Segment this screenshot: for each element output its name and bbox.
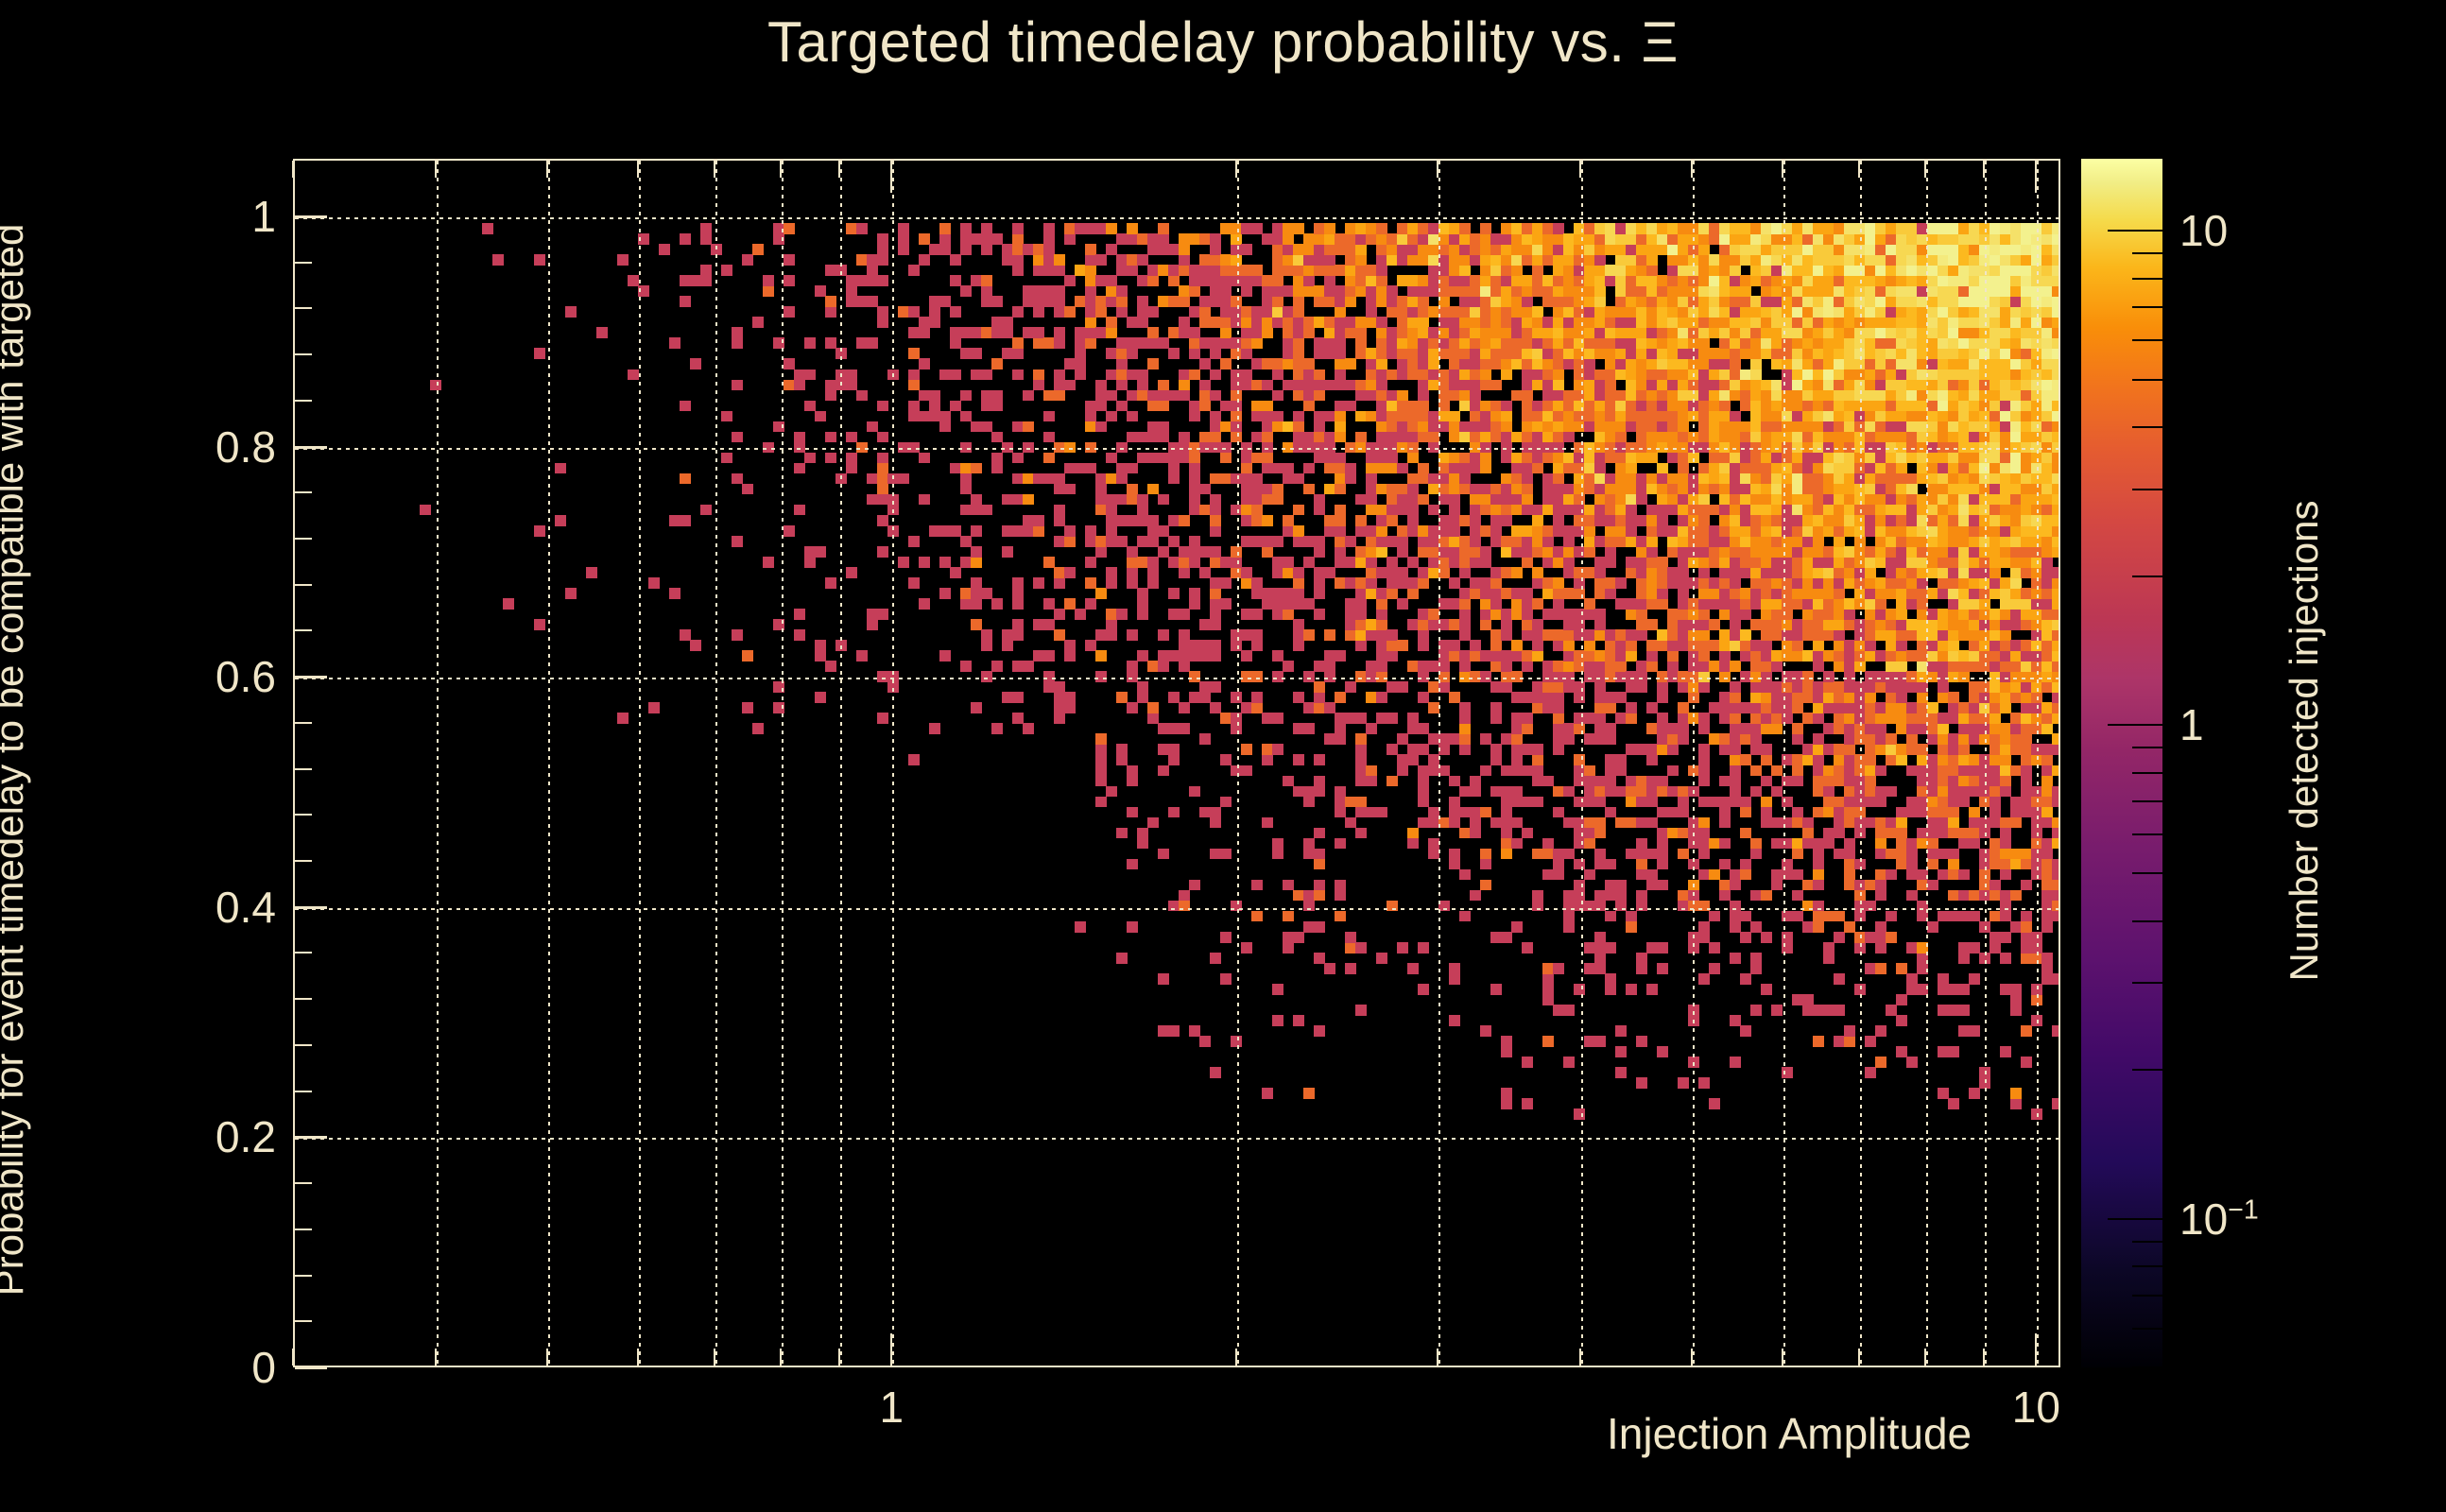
heatmap-cell — [1969, 265, 1980, 276]
heatmap-cell — [1553, 640, 1564, 651]
heatmap-cell — [1605, 525, 1616, 537]
heatmap-cell — [1584, 223, 1595, 234]
heatmap-cell — [2041, 306, 2053, 318]
heatmap-cell — [1865, 619, 1876, 630]
heatmap-cell — [1283, 515, 1294, 526]
heatmap-cell — [2000, 473, 2011, 485]
heatmap-cell — [1896, 588, 1907, 599]
heatmap-cell — [960, 505, 972, 516]
heatmap-cell — [1813, 859, 1824, 870]
colorbar-tick-minor — [2132, 747, 2162, 748]
heatmap-cell — [1511, 254, 1523, 266]
heatmap-cell — [1553, 681, 1564, 693]
heatmap-cell — [1147, 567, 1159, 578]
heatmap-cell — [1979, 432, 1990, 443]
heatmap-cell — [1948, 744, 1959, 755]
heatmap-cell — [1470, 515, 1481, 526]
heatmap-cell — [1761, 463, 1772, 474]
heatmap-cell — [1678, 223, 1689, 234]
heatmap-cell — [1303, 797, 1315, 808]
heatmap-cell — [1896, 369, 1907, 381]
heatmap-cell — [804, 401, 816, 412]
heatmap-cell — [1730, 484, 1741, 495]
heatmap-cell — [1210, 598, 1221, 610]
heatmap-cell — [929, 296, 940, 307]
heatmap-cell — [1210, 817, 1221, 829]
heatmap-cell — [1938, 525, 1949, 537]
heatmap-cell — [1636, 265, 1647, 276]
heatmap-cell — [1740, 337, 1751, 349]
heatmap-cell — [1906, 942, 1918, 954]
heatmap-cell — [1303, 557, 1315, 568]
heatmap-cell — [1210, 619, 1221, 630]
x-tick-minor — [1691, 1349, 1693, 1366]
heatmap-cell — [1387, 327, 1398, 338]
heatmap-cell — [1522, 713, 1533, 724]
heatmap-cell — [1147, 337, 1159, 349]
heatmap-cell — [1813, 807, 1824, 818]
heatmap-cell — [1418, 942, 1429, 954]
heatmap-cell — [1906, 567, 1918, 578]
heatmap-cell — [2041, 609, 2053, 620]
heatmap-cell — [1418, 692, 1429, 703]
heatmap-cell — [1927, 432, 1938, 443]
heatmap-cell — [1740, 629, 1751, 641]
heatmap-cell — [1324, 567, 1335, 578]
heatmap-cell — [846, 223, 857, 234]
heatmap-cell — [1563, 661, 1575, 672]
heatmap-cell — [1730, 317, 1741, 328]
heatmap-cell — [991, 317, 1003, 328]
heatmap-cell — [2031, 557, 2042, 568]
heatmap-cell — [1563, 723, 1575, 734]
heatmap-cell — [1667, 306, 1679, 318]
heatmap-cell — [1875, 598, 1886, 610]
heatmap-cell — [732, 473, 743, 485]
heatmap-cell — [1262, 442, 1273, 454]
heatmap-cell — [1646, 817, 1658, 829]
heatmap-cell — [1771, 619, 1783, 630]
heatmap-cell — [1220, 453, 1232, 464]
heatmap-cell — [1886, 692, 1897, 703]
heatmap-cell — [1199, 254, 1211, 266]
heatmap-cell — [1594, 223, 1606, 234]
heatmap-cell — [1501, 1046, 1512, 1057]
heatmap-cell — [887, 505, 899, 516]
heatmap-cell — [1990, 401, 2001, 412]
heatmap-cell — [1376, 348, 1387, 359]
heatmap-cell — [1646, 296, 1658, 307]
heatmap-cell — [1615, 661, 1627, 672]
heatmap-cell — [1896, 744, 1907, 755]
heatmap-cell — [1813, 754, 1824, 765]
heatmap-cell — [1969, 567, 1980, 578]
heatmap-cell — [1397, 942, 1408, 954]
heatmap-cell — [2000, 442, 2011, 454]
heatmap-cell — [929, 390, 940, 402]
heatmap-cell — [1293, 275, 1304, 286]
heatmap-cell — [1584, 536, 1595, 547]
heatmap-cell — [1179, 723, 1190, 734]
heatmap-cell — [1584, 640, 1595, 651]
heatmap-cell — [1324, 484, 1335, 495]
heatmap-cell — [2052, 453, 2060, 464]
heatmap-cell — [1948, 536, 1959, 547]
heatmap-cell — [1740, 306, 1751, 318]
heatmap-cell — [1958, 348, 1970, 359]
heatmap-cell — [1594, 411, 1606, 422]
heatmap-cell — [1605, 692, 1616, 703]
heatmap-cell — [1189, 285, 1200, 297]
heatmap-cell — [2000, 932, 2011, 943]
heatmap-cell — [1990, 265, 2001, 276]
heatmap-cell — [1085, 442, 1096, 454]
heatmap-cell — [1948, 869, 1959, 881]
heatmap-cell — [1667, 744, 1679, 755]
heatmap-cell — [1875, 254, 1886, 266]
heatmap-cell — [1813, 473, 1824, 485]
heatmap-cell — [2021, 609, 2032, 620]
heatmap-cell — [1698, 713, 1710, 724]
heatmap-cell — [1657, 432, 1668, 443]
heatmap-cell — [1906, 296, 1918, 307]
heatmap-cell — [1283, 880, 1294, 891]
heatmap-cell — [1085, 401, 1096, 412]
heatmap-cell — [2010, 536, 2022, 547]
heatmap-cell — [1459, 337, 1471, 349]
heatmap-cell — [1615, 390, 1627, 402]
heatmap-cell — [950, 306, 961, 318]
heatmap-cell — [1438, 525, 1450, 537]
heatmap-cell — [1480, 484, 1491, 495]
heatmap-cell — [1657, 681, 1668, 693]
heatmap-cell — [1792, 619, 1803, 630]
heatmap-cell — [1979, 786, 1990, 798]
heatmap-cell — [1251, 505, 1263, 516]
heatmap-cell — [1605, 348, 1616, 359]
heatmap-cell — [2010, 285, 2022, 297]
heatmap-cell — [1865, 254, 1876, 266]
heatmap-cell — [1782, 337, 1793, 349]
heatmap-cell — [1262, 233, 1273, 245]
heatmap-cell — [1927, 921, 1938, 933]
heatmap-cell — [1553, 515, 1564, 526]
heatmap-cell — [1511, 598, 1523, 610]
heatmap-cell — [825, 390, 836, 402]
heatmap-cell — [1906, 973, 1918, 985]
heatmap-cell — [1730, 358, 1741, 369]
heatmap-cell — [981, 233, 992, 245]
heatmap-cell — [1678, 515, 1689, 526]
heatmap-cell — [1407, 233, 1419, 245]
heatmap-cell — [1522, 453, 1533, 464]
heatmap-cell — [1667, 411, 1679, 422]
heatmap-cell — [1043, 411, 1055, 422]
heatmap-cell — [742, 484, 753, 495]
heatmap-cell — [971, 546, 982, 558]
heatmap-cell — [2041, 921, 2053, 933]
heatmap-cell — [1865, 317, 1876, 328]
heatmap-cell — [2000, 421, 2011, 433]
heatmap-cell — [1750, 849, 1762, 860]
heatmap-cell — [1594, 692, 1606, 703]
heatmap-cell — [1470, 640, 1481, 651]
heatmap-cell — [2010, 765, 2022, 777]
heatmap-cell — [1615, 358, 1627, 369]
heatmap-cell — [1969, 473, 1980, 485]
heatmap-cell — [1896, 859, 1907, 870]
heatmap-cell — [1449, 453, 1460, 464]
heatmap-cell — [960, 244, 972, 255]
heatmap-cell — [742, 254, 753, 266]
heatmap-cell — [1948, 776, 1959, 787]
heatmap-cell — [1844, 327, 1855, 338]
heatmap-cell — [1241, 306, 1252, 318]
heatmap-cell — [1782, 369, 1793, 381]
heatmap-cell — [1782, 609, 1793, 620]
heatmap-cell — [1563, 463, 1575, 474]
heatmap-cell — [1615, 505, 1627, 516]
heatmap-cell — [1366, 223, 1377, 234]
heatmap-cell — [1990, 702, 2001, 713]
heatmap-cell — [1636, 786, 1647, 798]
heatmap-cell — [1771, 463, 1783, 474]
heatmap-cell — [2010, 484, 2022, 495]
heatmap-cell — [1740, 432, 1751, 443]
heatmap-cell — [1428, 567, 1439, 578]
heatmap-cell — [1730, 557, 1741, 568]
heatmap-cell — [1501, 337, 1512, 349]
heatmap-cell — [1823, 515, 1834, 526]
heatmap-cell — [2021, 797, 2032, 808]
heatmap-cell — [1802, 880, 1814, 891]
heatmap-cell — [1594, 849, 1606, 860]
x-tick-top — [546, 161, 548, 178]
heatmap-cell — [1418, 337, 1429, 349]
heatmap-cell — [1480, 859, 1491, 870]
heatmap-cell — [2021, 285, 2032, 297]
heatmap-cell — [1095, 484, 1107, 495]
heatmap-cell — [1948, 358, 1959, 369]
heatmap-cell — [1563, 525, 1575, 537]
heatmap-cell — [1969, 1088, 1980, 1099]
heatmap-cell — [1927, 588, 1938, 599]
heatmap-cell — [2010, 692, 2022, 703]
heatmap-cell — [1532, 442, 1543, 454]
heatmap-cell — [887, 671, 899, 682]
heatmap-cell — [1251, 515, 1263, 526]
heatmap-cell — [1272, 358, 1283, 369]
heatmap-cell — [2000, 733, 2011, 745]
heatmap-cell — [1709, 733, 1720, 745]
heatmap-cell — [1688, 296, 1699, 307]
heatmap-cell — [1127, 265, 1138, 276]
heatmap-cell — [1387, 463, 1398, 474]
heatmap-cell — [1012, 306, 1024, 318]
heatmap-cell — [1106, 453, 1117, 464]
heatmap-cell — [1594, 306, 1606, 318]
heatmap-cell — [1698, 754, 1710, 765]
heatmap-cell — [1854, 557, 1866, 568]
heatmap-cell — [763, 557, 774, 568]
heatmap-cell — [1823, 463, 1834, 474]
heatmap-cell — [534, 348, 545, 359]
heatmap-cell — [1875, 733, 1886, 745]
heatmap-cell — [1449, 807, 1460, 818]
heatmap-cell — [1574, 390, 1585, 402]
heatmap-cell — [1459, 275, 1471, 286]
heatmap-cell — [1990, 911, 2001, 922]
heatmap-cell — [1335, 713, 1346, 724]
heatmap-cell — [1033, 380, 1044, 391]
heatmap-cell — [1615, 901, 1627, 912]
heatmap-cell — [628, 275, 639, 286]
heatmap-cell — [1844, 776, 1855, 787]
heatmap-cell — [1501, 453, 1512, 464]
heatmap-cell — [1137, 505, 1148, 516]
heatmap-cell — [1563, 629, 1575, 641]
heatmap-cell — [1542, 984, 1554, 995]
heatmap-cell — [804, 557, 816, 568]
heatmap-cell — [1834, 358, 1845, 369]
heatmap-cell — [1303, 838, 1315, 850]
heatmap-cell — [1750, 275, 1762, 286]
heatmap-cell — [1646, 411, 1658, 422]
heatmap-cell — [1761, 380, 1772, 391]
heatmap-cell — [2010, 348, 2022, 359]
heatmap-cell — [1563, 453, 1575, 464]
heatmap-cell — [1480, 671, 1491, 682]
heatmap-cell — [1875, 890, 1886, 902]
heatmap-cell — [2010, 588, 2022, 599]
heatmap-cell — [1844, 380, 1855, 391]
colorbar-tick-minor — [2132, 426, 2162, 428]
heatmap-cell — [1688, 233, 1699, 245]
heatmap-cell — [1095, 275, 1107, 286]
heatmap-cell — [1449, 327, 1460, 338]
heatmap-cell — [1854, 390, 1866, 402]
heatmap-cell — [898, 473, 909, 485]
heatmap-cell — [1054, 265, 1065, 276]
heatmap-cell — [1553, 692, 1564, 703]
heatmap-cell — [1802, 525, 1814, 537]
heatmap-cell — [1730, 776, 1741, 787]
heatmap-cell — [1116, 953, 1128, 964]
heatmap-cell — [2010, 817, 2022, 829]
heatmap-cell — [1688, 577, 1699, 589]
heatmap-cell — [1542, 296, 1554, 307]
heatmap-cell — [1969, 557, 1980, 568]
heatmap-cell — [1574, 254, 1585, 266]
heatmap-cell — [960, 348, 972, 359]
heatmap-cell — [1896, 254, 1907, 266]
heatmap-cell — [1501, 484, 1512, 495]
heatmap-cell — [1761, 619, 1772, 630]
heatmap-cell — [1438, 515, 1450, 526]
heatmap-cell — [908, 380, 920, 391]
heatmap-cell — [1387, 369, 1398, 381]
heatmap-cell — [1626, 421, 1637, 433]
heatmap-cell — [1615, 411, 1627, 422]
heatmap-cell — [1626, 536, 1637, 547]
heatmap-cell — [1782, 265, 1793, 276]
heatmap-cell — [1324, 223, 1335, 234]
heatmap-cell — [1667, 421, 1679, 433]
heatmap-cell — [2031, 609, 2042, 620]
heatmap-cell — [1542, 401, 1554, 412]
heatmap-cell — [1501, 1088, 1512, 1099]
heatmap-cell — [971, 494, 982, 506]
heatmap-cell — [1387, 296, 1398, 307]
heatmap-cell — [2052, 577, 2060, 589]
heatmap-cell — [1158, 432, 1169, 443]
heatmap-cell — [1542, 411, 1554, 422]
heatmap-cell — [1657, 671, 1668, 682]
heatmap-cell — [1324, 702, 1335, 713]
heatmap-cell — [1418, 797, 1429, 808]
heatmap-cell — [1345, 577, 1356, 589]
heatmap-cell — [919, 254, 930, 266]
heatmap-cell — [1782, 317, 1793, 328]
heatmap-cell — [1823, 692, 1834, 703]
heatmap-cell — [1366, 285, 1377, 297]
heatmap-cell — [1657, 421, 1668, 433]
heatmap-cell — [1345, 223, 1356, 234]
heatmap-cell — [1969, 973, 1980, 985]
heatmap-cell — [1532, 515, 1543, 526]
heatmap-cell — [1990, 348, 2001, 359]
heatmap-cell — [1397, 432, 1408, 443]
heatmap-cell — [1397, 223, 1408, 234]
heatmap-cell — [1127, 348, 1138, 359]
heatmap-cell — [1854, 296, 1866, 307]
heatmap-cell — [1802, 577, 1814, 589]
heatmap-cell — [2041, 223, 2053, 234]
heatmap-cell — [1657, 223, 1668, 234]
heatmap-cell — [1646, 265, 1658, 276]
heatmap-cell — [2021, 306, 2032, 318]
heatmap-cell — [1646, 598, 1658, 610]
heatmap-cell — [1542, 348, 1554, 359]
heatmap-cell — [1782, 390, 1793, 402]
heatmap-cell — [1272, 484, 1283, 495]
heatmap-cell — [1688, 505, 1699, 516]
heatmap-cell — [492, 254, 504, 266]
heatmap-cell — [1532, 546, 1543, 558]
heatmap-cell — [1428, 421, 1439, 433]
heatmap-cell — [1813, 411, 1824, 422]
heatmap-cell — [1251, 671, 1263, 682]
heatmap-cell — [1938, 754, 1949, 765]
heatmap-cell — [1875, 828, 1886, 839]
heatmap-cell — [1948, 390, 1959, 402]
heatmap-cell — [1906, 744, 1918, 755]
heatmap-cell — [1646, 797, 1658, 808]
heatmap-cell — [1698, 275, 1710, 286]
heatmap-cell — [1490, 744, 1502, 755]
heatmap-cell — [1948, 733, 1959, 745]
heatmap-cell — [1449, 505, 1460, 516]
heatmap-cell — [1646, 380, 1658, 391]
heatmap-cell — [1574, 629, 1585, 641]
heatmap-cell — [1990, 442, 2001, 454]
heatmap-cell — [1168, 588, 1180, 599]
heatmap-cell — [898, 306, 909, 318]
heatmap-cell — [1501, 306, 1512, 318]
heatmap-cell — [1948, 296, 1959, 307]
heatmap-cell — [659, 244, 670, 255]
heatmap-cell — [1906, 390, 1918, 402]
